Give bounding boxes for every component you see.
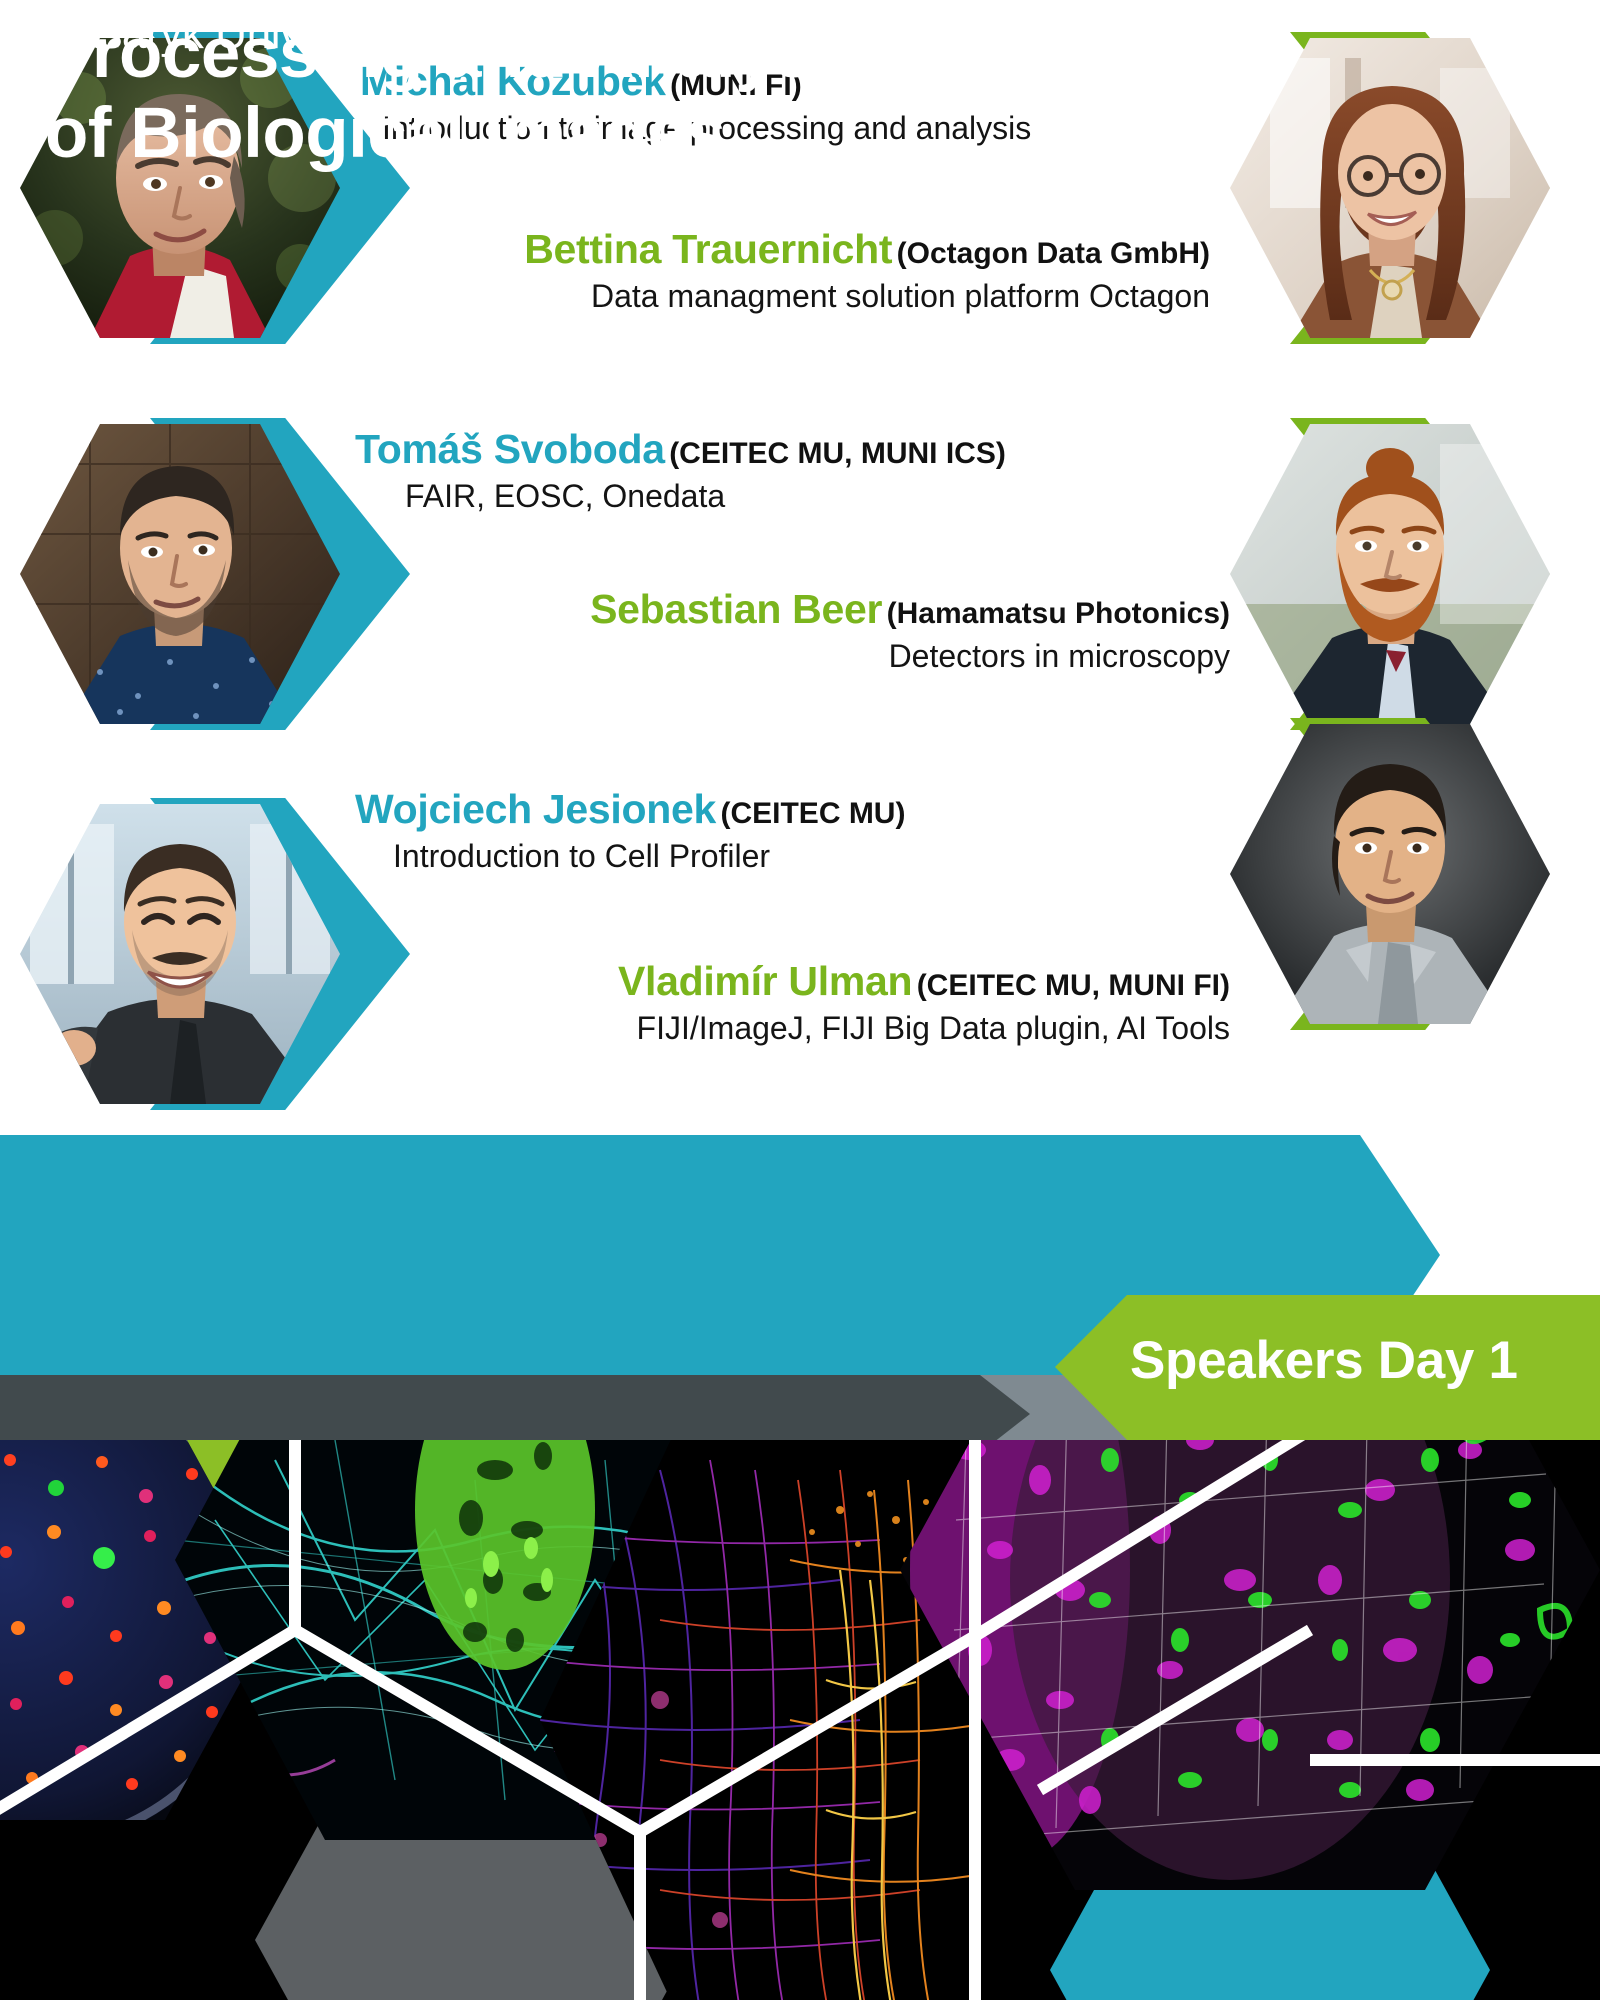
speaker-nameline-5: Wojciech Jesionek (CEITEC MU) (355, 788, 1215, 831)
speakers-day-badge-label: Speakers Day 1 (1130, 1330, 1518, 1391)
portrait-vladimir-ulman-image (1230, 724, 1550, 1024)
portrait-bettina-trauernicht-image (1230, 38, 1550, 338)
portrait-vladimir-ulman (1230, 724, 1550, 1024)
speaker-nameline-6: Vladimír Ulman (CEITEC MU, MUNI FI) (330, 960, 1230, 1003)
speaker-entry-4: Sebastian Beer (Hamamatsu Photonics) Det… (330, 588, 1230, 674)
speaker-name-3: Tomáš Svoboda (355, 426, 665, 472)
speaker-affiliation-2: (Octagon Data GmbH) (897, 237, 1210, 270)
speaker-entry-2: Bettina Trauernicht (Octagon Data GmbH) … (330, 228, 1210, 314)
speaker-name-4: Sebastian Beer (590, 586, 882, 632)
portrait-bettina-trauernicht (1230, 38, 1550, 338)
speaker-nameline-3: Tomáš Svoboda (CEITEC MU, MUNI ICS) (355, 428, 1215, 471)
speaker-affiliation-4: (Hamamatsu Photonics) (887, 597, 1230, 630)
speaker-name-5: Wojciech Jesionek (355, 786, 716, 832)
speaker-nameline-2: Bettina Trauernicht (Octagon Data GmbH) (330, 228, 1210, 271)
speaker-affiliation-6: (CEITEC MU, MUNI FI) (917, 969, 1230, 1002)
speaker-topic-5: Introduction to Cell Profiler (393, 839, 1215, 874)
title-line-2: of Biological Images (45, 94, 871, 174)
mosaic-dividers (0, 1440, 1600, 2000)
speaker-topic-3: FAIR, EOSC, Onedata (405, 479, 1215, 514)
portrait-sebastian-beer (1230, 424, 1550, 724)
speaker-topic-4: Detectors in microscopy (330, 639, 1230, 674)
speaker-entry-3: Tomáš Svoboda (CEITEC MU, MUNI ICS) FAIR… (355, 428, 1215, 514)
speaker-name-2: Bettina Trauernicht (524, 226, 892, 272)
speaker-name-6: Vladimír Ulman (618, 958, 912, 1004)
speaker-topic-6: FIJI/ImageJ, FIJI Big Data plugin, AI To… (330, 1011, 1230, 1046)
subtitle-label: Masaryk University Campus, BRNO (40, 12, 727, 56)
speaker-row-3: Wojciech Jesionek (CEITEC MU) Introducti… (0, 740, 1600, 1140)
portrait-sebastian-beer-image (1230, 424, 1550, 724)
speaker-affiliation-3: (CEITEC MU, MUNI ICS) (669, 437, 1006, 470)
speaker-entry-6: Vladimír Ulman (CEITEC MU, MUNI FI) FIJI… (330, 960, 1230, 1046)
speaker-affiliation-5: (CEITEC MU) (720, 797, 905, 830)
micrograph-mosaic (0, 1440, 1600, 2000)
speaker-entry-5: Wojciech Jesionek (CEITEC MU) Introducti… (355, 788, 1215, 874)
speaker-topic-2: Data managment solution platform Octagon (330, 279, 1210, 314)
speaker-row-2: Tomáš Svoboda (CEITEC MU, MUNI ICS) FAIR… (0, 380, 1600, 740)
speaker-nameline-4: Sebastian Beer (Hamamatsu Photonics) (330, 588, 1230, 631)
poster-canvas: Michal Kozubek (MUNI FI) Introduction to… (0, 0, 1600, 2000)
